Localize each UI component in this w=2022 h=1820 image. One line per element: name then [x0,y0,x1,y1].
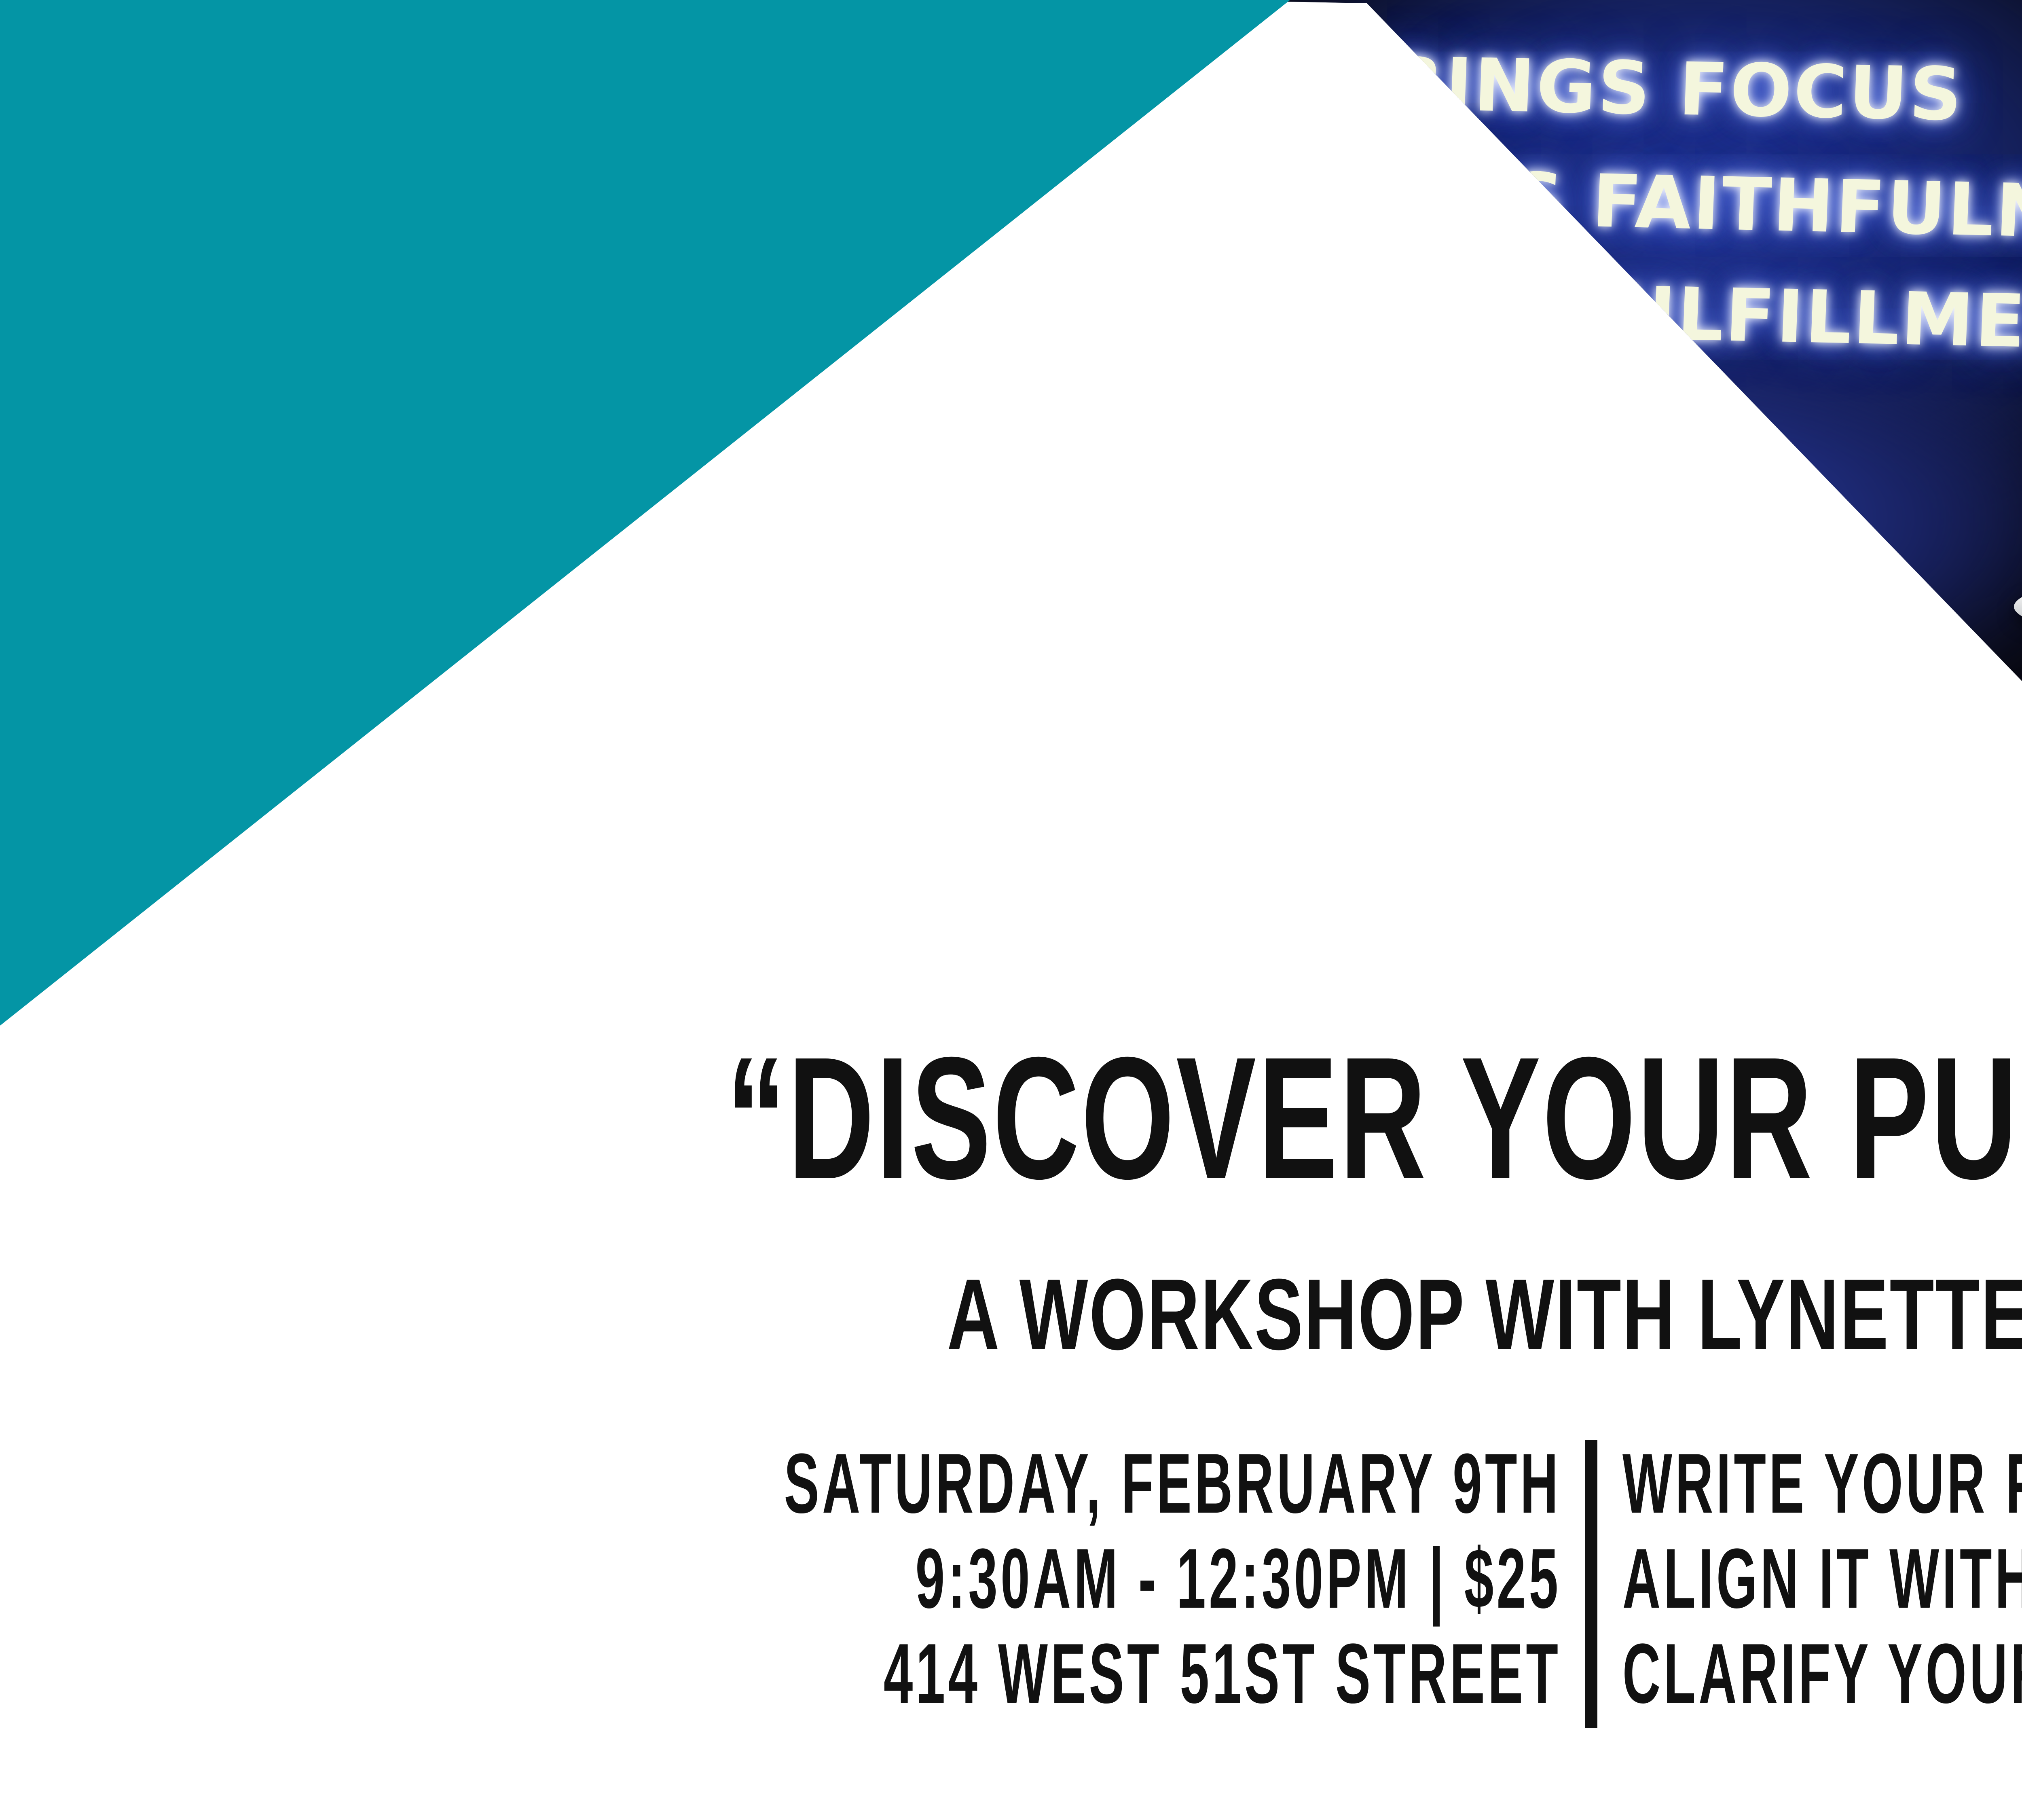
event-outcomes-column: WRITE YOUR PURPOSE STATEMENT ALIGN IT WI… [1597,1436,2022,1721]
stage-screen-line-1: BRINGS FOCUS [1329,40,1965,137]
hero-graphic-band: BRINGS FOCUS BLES FAITHFULNESS & FORTITU… [0,0,2022,1027]
teal-triangle-accent [0,0,1294,1029]
outcome-item-1: WRITE YOUR PURPOSE STATEMENT [1622,1436,2022,1531]
column-divider [1585,1440,1597,1728]
event-date: SATURDAY, FEBRUARY 9TH [784,1436,1561,1531]
stage-floor-glow [1860,704,2022,979]
outcome-item-3: CLARIFY YOUR NEXT STEPS [1622,1626,2022,1721]
page-subtitle: A WORKSHOP WITH LYNETTE LEWIS [453,1264,2022,1365]
event-address: 414 WEST 51ST STREET [884,1626,1561,1721]
stage-screen-glow-lower [1233,315,2022,720]
outcome-item-2: ALIGN IT WITH YOUR WORK [1622,1531,2022,1626]
event-logistics-column: SATURDAY, FEBRUARY 9TH 9:30AM - 12:30PM … [0,1436,1585,1721]
event-details: SATURDAY, FEBRUARY 9TH 9:30AM - 12:30PM … [0,1436,2022,1728]
event-time-and-price: 9:30AM - 12:30PM | $25 [915,1531,1561,1626]
stage-screen-line-3: TO FULFILLMENT [1422,267,2022,366]
page-title: “DISCOVER YOUR PURPOSE” [501,1031,2022,1205]
podium-tabletop [2014,566,2022,647]
workshop-flyer: BRINGS FOCUS BLES FAITHFULNESS & FORTITU… [0,0,2022,1820]
flyer-text-block: “DISCOVER YOUR PURPOSE” A WORKSHOP WITH … [0,1027,2022,1820]
stage-screen-line-2: BLES FAITHFULNESS & FORTITUDE [1353,154,2022,271]
